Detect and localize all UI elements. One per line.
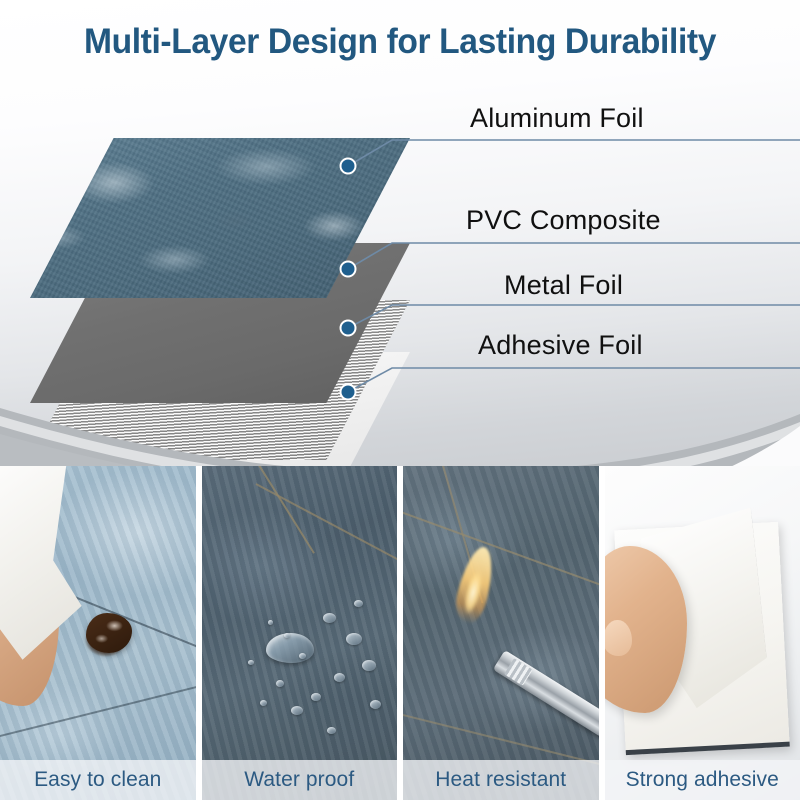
water-droplet	[362, 660, 376, 671]
water-droplet	[268, 620, 273, 625]
feature-panel-strong-adhesive: Strong adhesive	[605, 466, 800, 800]
feature-photo-strip: Easy to clean	[0, 466, 800, 800]
leader-line-metal-foil	[348, 305, 800, 328]
caption-band: Heat resistant	[403, 760, 599, 800]
layer-label-aluminum-foil: Aluminum Foil	[470, 103, 644, 134]
leader-line-pvc-composite	[348, 243, 800, 269]
feature-panel-water-proof: Water proof	[202, 466, 398, 800]
caption-band: Easy to clean	[0, 760, 196, 800]
callout-lines	[0, 0, 800, 500]
photo-heat-resistant	[403, 466, 599, 800]
tissue-paper	[0, 466, 86, 660]
caption-band: Strong adhesive	[605, 760, 800, 800]
callout-dot-pvc-composite	[342, 263, 355, 276]
callout-dot-metal-foil	[342, 322, 355, 335]
water-droplet	[291, 706, 303, 715]
layer-label-metal-foil: Metal Foil	[504, 270, 623, 301]
flame	[451, 544, 499, 627]
water-droplet	[354, 600, 363, 607]
layer-diagram-stage: Multi-Layer Design for Lasting Durabilit…	[0, 0, 800, 500]
grout-line	[256, 483, 397, 567]
leader-line-aluminum-foil	[348, 140, 800, 166]
water-droplet	[323, 613, 336, 623]
thumb	[605, 620, 632, 657]
feature-panel-heat-resistant: Heat resistant	[403, 466, 599, 800]
feature-caption-strong-adhesive: Strong adhesive	[626, 768, 779, 792]
photo-strong-adhesive	[605, 466, 800, 800]
photo-water-proof	[202, 466, 398, 800]
water-droplet	[370, 700, 381, 709]
chocolate-stain	[86, 613, 132, 653]
layer-label-adhesive-foil: Adhesive Foil	[478, 330, 643, 361]
water-droplet	[248, 660, 254, 665]
water-droplet-large	[266, 633, 314, 663]
layer-label-pvc-composite: PVC Composite	[466, 205, 661, 236]
caption-band: Water proof	[202, 760, 398, 800]
water-droplet	[327, 727, 336, 734]
feature-panel-easy-to-clean: Easy to clean	[0, 466, 196, 800]
water-droplet	[284, 633, 290, 638]
callout-dot-adhesive-foil	[342, 386, 355, 399]
product-infographic: Multi-Layer Design for Lasting Durabilit…	[0, 0, 800, 800]
grout-line	[403, 506, 599, 595]
water-droplet	[276, 680, 284, 687]
photo-easy-to-clean	[0, 466, 196, 800]
feature-caption-heat-resistant: Heat resistant	[435, 768, 566, 792]
water-droplet	[346, 633, 362, 645]
callout-dot-aluminum-foil	[342, 160, 355, 173]
lighter-grip-band	[504, 658, 533, 686]
leader-line-adhesive-foil	[348, 368, 800, 392]
feature-caption-easy-to-clean: Easy to clean	[34, 768, 161, 792]
water-droplet	[311, 693, 321, 701]
lighter	[492, 650, 598, 737]
water-droplet	[334, 673, 345, 682]
feature-caption-water-proof: Water proof	[244, 768, 354, 792]
water-droplet	[260, 700, 267, 706]
